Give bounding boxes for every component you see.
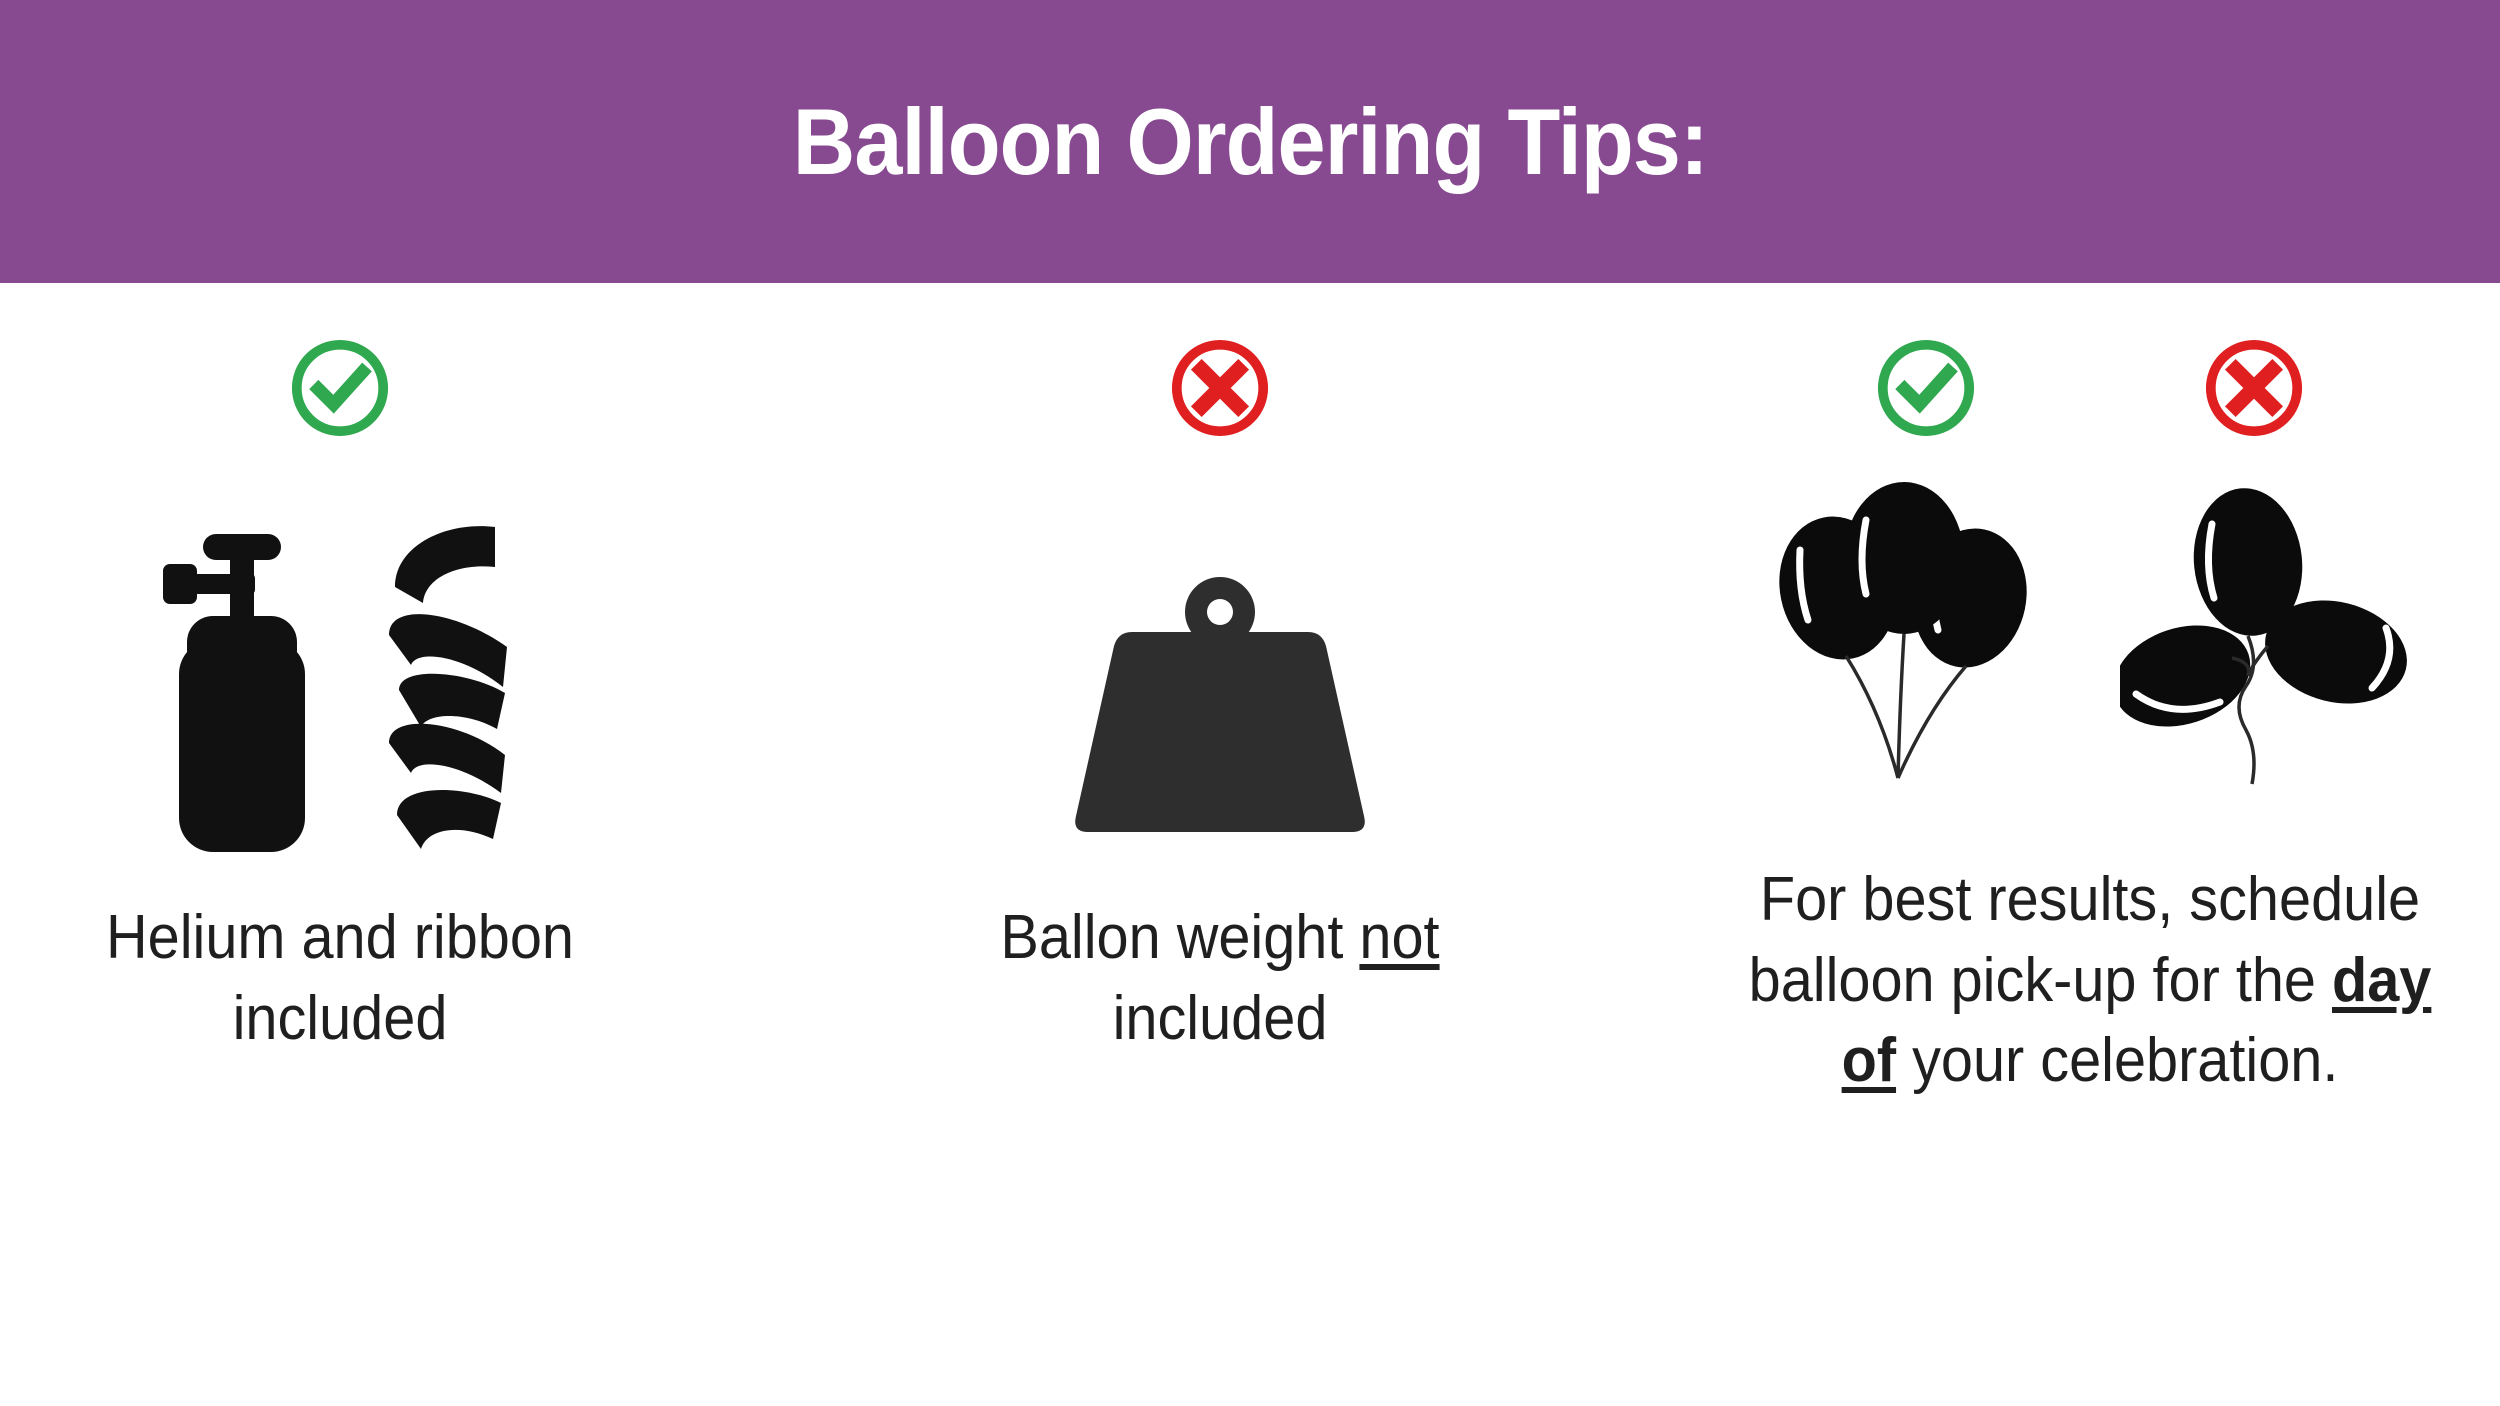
caption-text-post: included bbox=[1113, 984, 1328, 1053]
status-icon-row bbox=[1872, 308, 2308, 468]
tips-row: Helium and ribbon included Ballon weight… bbox=[0, 283, 2500, 1406]
caption-text-pre: Ballon weight bbox=[1000, 903, 1359, 972]
x-circle-icon bbox=[1166, 334, 1274, 442]
weight-icon bbox=[1070, 560, 1370, 860]
artwork-row bbox=[157, 490, 523, 860]
balloons-deflated-icon bbox=[2120, 480, 2410, 790]
tip-column-pickup-timing: For best results, schedule balloon pick-… bbox=[1680, 283, 2500, 1102]
helium-tank-icon bbox=[157, 530, 317, 860]
caption-balloon-weight: Ballon weight not included bbox=[913, 898, 1527, 1059]
check-circle-icon bbox=[286, 334, 394, 442]
caption-pickup-timing: For best results, schedule balloon pick-… bbox=[1723, 860, 2458, 1102]
caption-text: Helium and ribbon included bbox=[106, 903, 574, 1053]
caption-text-post: your celebration. bbox=[1896, 1026, 2338, 1095]
curly-ribbon-icon bbox=[373, 515, 523, 860]
page-title: Balloon Ordering Tips: bbox=[792, 95, 1707, 189]
balloons-floating-icon bbox=[1770, 480, 2040, 790]
tip-column-helium-ribbon: Helium and ribbon included bbox=[0, 283, 680, 1059]
caption-emphasis-not: not bbox=[1359, 903, 1439, 972]
header-banner: Balloon Ordering Tips: bbox=[0, 0, 2500, 283]
status-icon-row bbox=[1166, 308, 1274, 468]
check-circle-icon bbox=[1872, 334, 1980, 442]
caption-text-pre: For best results, schedule balloon pick-… bbox=[1749, 865, 2420, 1015]
x-circle-icon bbox=[2200, 334, 2308, 442]
tip-column-balloon-weight: Ballon weight not included bbox=[880, 283, 1560, 1059]
artwork-row bbox=[1770, 480, 2410, 850]
status-icon-row bbox=[286, 308, 394, 468]
caption-helium-ribbon: Helium and ribbon included bbox=[33, 898, 647, 1059]
artwork-row bbox=[1070, 490, 1370, 860]
